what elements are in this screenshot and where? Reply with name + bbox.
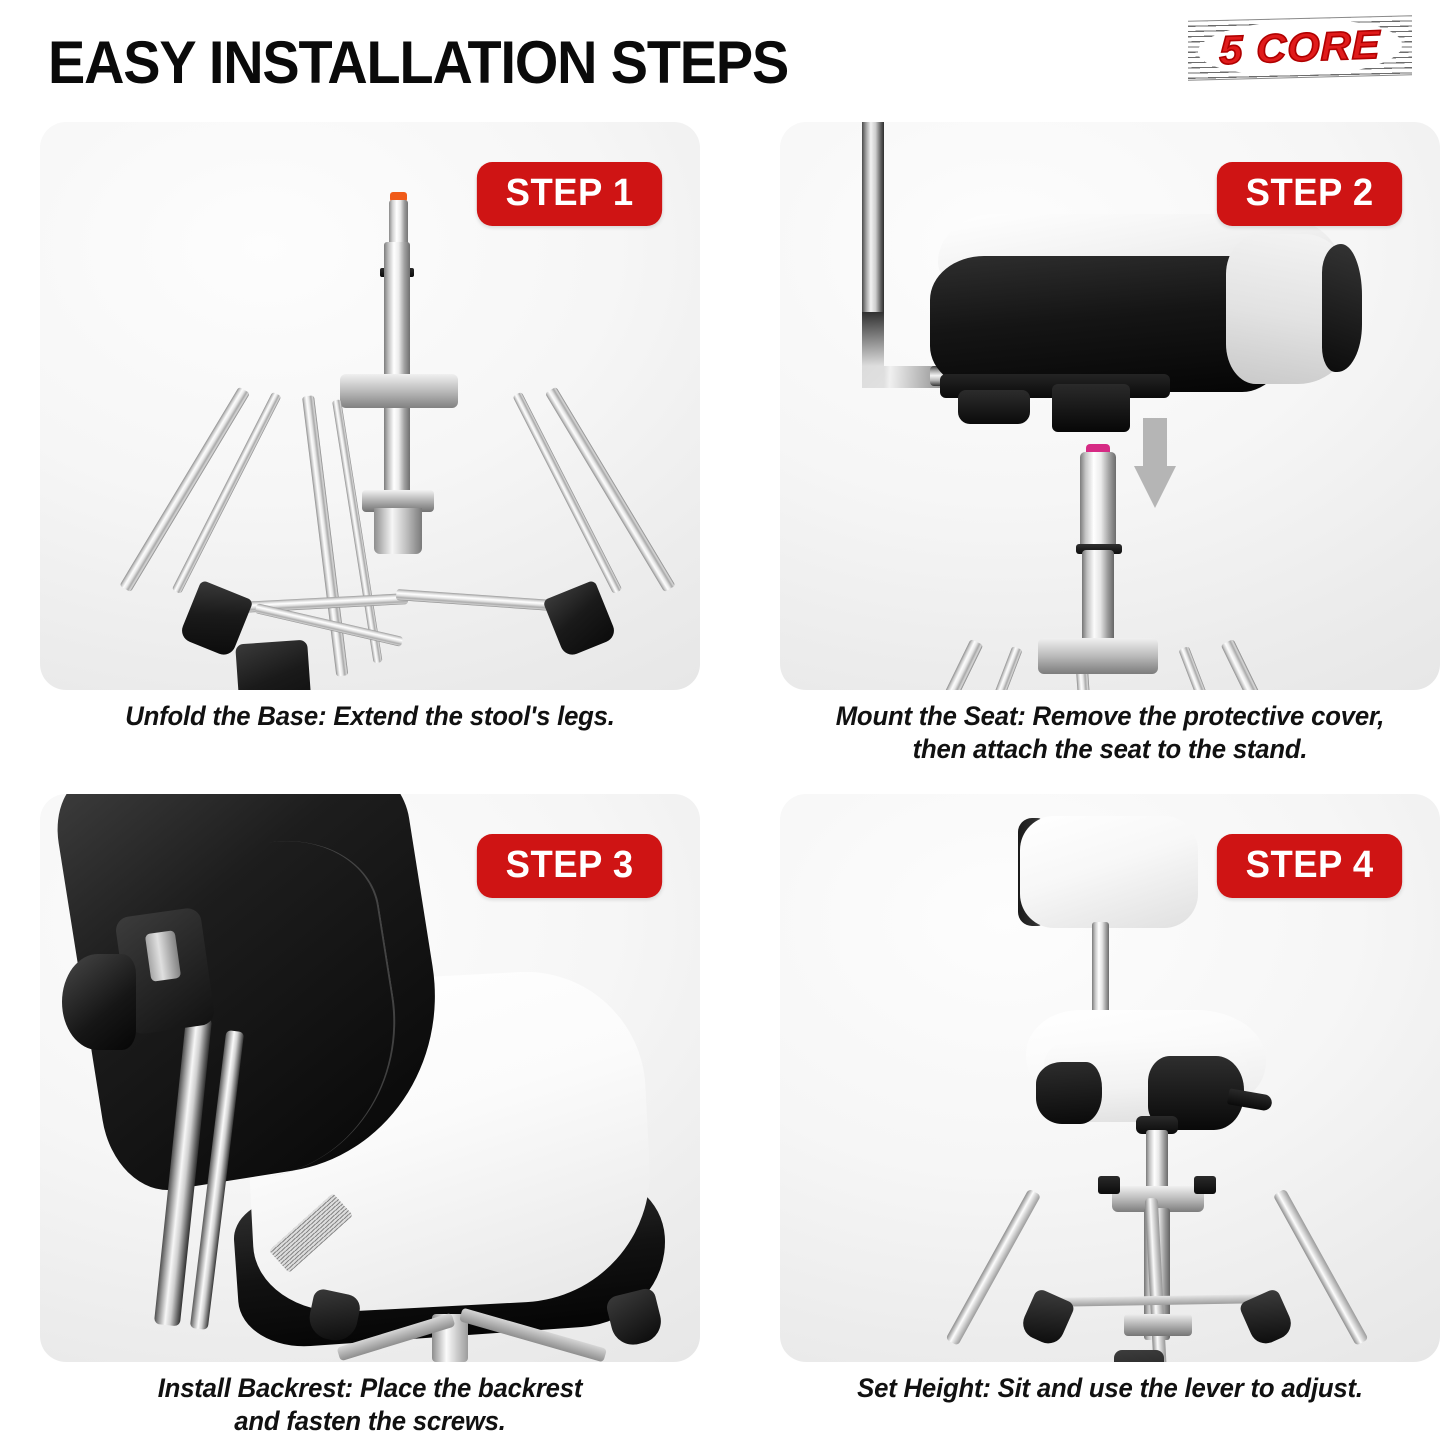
step-cell-4: STEP 4 Set Height: Sit and use the lever… [780, 794, 1440, 1440]
step-badge-1: STEP 1 [477, 162, 663, 226]
step-badge-3: STEP 3 [477, 834, 663, 898]
lower-hub [1124, 1314, 1192, 1336]
seat-rear-black [1322, 244, 1362, 372]
caption-line: Unfold the Base: Extend the stool's legs… [50, 700, 690, 733]
steps-grid: STEP 1 Unfold the Base: Extend the stool… [0, 122, 1440, 1440]
rubber-foot-front [235, 640, 313, 690]
brand-logo-5core: 5 CORE [1188, 18, 1412, 78]
step-photo-2: STEP 2 [780, 122, 1440, 690]
screw-bolt-icon [145, 930, 181, 982]
arrow-shaft [1143, 418, 1167, 468]
leg-clamp-left [1098, 1176, 1120, 1194]
step-photo-4: STEP 4 [780, 794, 1440, 1362]
caption-line: Install Backrest: Place the backrest [50, 1372, 690, 1405]
step-caption-2: Mount the Seat: Remove the protective co… [790, 700, 1430, 766]
stand-leg-right [1221, 639, 1295, 690]
caption-line: then attach the seat to the stand. [790, 733, 1430, 766]
seat-side-black-left [1036, 1062, 1102, 1124]
arrow-head [1134, 466, 1176, 508]
leg-yoke [340, 374, 458, 408]
stand-hub [1038, 638, 1158, 674]
page-title: EASY INSTALLATION STEPS [48, 30, 788, 96]
caption-line: Mount the Seat: Remove the protective co… [790, 700, 1430, 733]
downward-arrow-icon [1134, 418, 1176, 510]
seat-mount-block [1052, 384, 1130, 432]
caption-line: Set Height: Sit and use the lever to adj… [790, 1372, 1430, 1405]
page-header: EASY INSTALLATION STEPS 5 CORE [0, 0, 1440, 118]
caption-line: and fasten the screws. [50, 1405, 690, 1438]
spindle-upper [1080, 452, 1116, 552]
leg-clamp-right [1194, 1176, 1216, 1194]
step-badge-2: STEP 2 [1217, 162, 1403, 226]
backrest-bar-vertical [862, 122, 884, 342]
adjust-knob [62, 954, 136, 1050]
rubber-foot-right [604, 1287, 665, 1350]
rubber-foot-right [542, 580, 617, 658]
backrest-pad-white [1020, 816, 1198, 928]
step-caption-4: Set Height: Sit and use the lever to adj… [790, 1372, 1430, 1405]
installation-steps-page: EASY INSTALLATION STEPS 5 CORE [0, 0, 1440, 1440]
step-caption-3: Install Backrest: Place the backrest and… [50, 1372, 690, 1438]
step-cell-1: STEP 1 Unfold the Base: Extend the stool… [40, 122, 700, 768]
step-cell-2: STEP 2 Mount the Seat: Remove the protec… [780, 122, 1440, 768]
step-cell-3: STEP 3 Install Backrest: Place the backr… [40, 794, 700, 1440]
step-badge-4: STEP 4 [1217, 834, 1403, 898]
stand-leg-left [909, 639, 983, 690]
seat-mount-knob [958, 390, 1030, 424]
step-caption-1: Unfold the Base: Extend the stool's legs… [50, 700, 690, 733]
step-photo-1: STEP 1 [40, 122, 700, 690]
brand-logo-text: 5 CORE [1184, 14, 1417, 83]
backrest-stem [1092, 922, 1109, 1014]
base-hub-lower [374, 508, 422, 554]
step-photo-3: STEP 3 [40, 794, 700, 1362]
rubber-foot-center [1114, 1350, 1164, 1362]
